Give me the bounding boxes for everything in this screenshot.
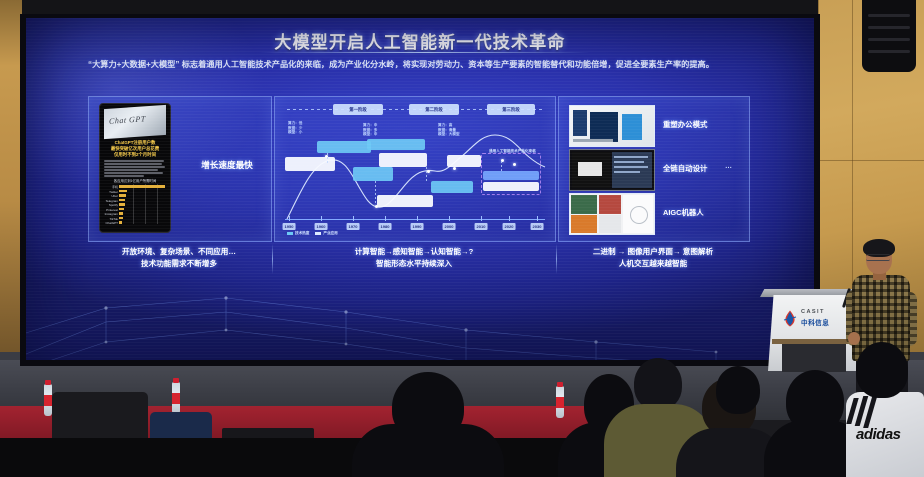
phone-headline-line3: 仅用时不到2个月时间 <box>104 152 166 158</box>
x-tick-8: 2030 <box>531 223 544 230</box>
thumb-design-screenshot <box>569 149 655 191</box>
timeline-box-3 <box>353 167 393 181</box>
right-item-label-1: 全链自动设计 <box>663 163 707 174</box>
water-bottle-2 <box>172 382 180 414</box>
podium-brand-en: CASIT <box>801 309 825 315</box>
timeline-box-6 <box>379 153 427 167</box>
audience-shoulders-1 <box>352 424 504 477</box>
water-bottle-3 <box>556 386 564 418</box>
panel-right: 重塑办公模式 全链自动设计 … AIGC机器人 <box>558 96 750 242</box>
thumb-office-screenshot <box>569 105 655 147</box>
timeline-box-5 <box>367 139 425 150</box>
podium-brand-cn: 中科信息 <box>801 317 829 327</box>
x-tick-2: 1970 <box>347 223 360 230</box>
curve-annotation: 通用人工智能技术产品化来临 <box>489 149 536 154</box>
x-tick-0: 1950 <box>283 223 296 230</box>
speaker-glasses-icon <box>866 254 890 261</box>
phone-bar-chart: 各应用达到1亿用户所需时间 手机 Twitter Uber Telegram S… <box>103 178 167 226</box>
slide-title: 大模型开启人工智能新一代技术革命 <box>26 28 814 53</box>
caption-middle-line1: 计算智能→感知智能→认知智能→? <box>274 246 554 258</box>
caption-right-line1: 二进制 → 图像用户界面→ 意图解析 <box>558 246 748 258</box>
panel-left: Chat GPT ChatGPT注册用户数 最快突破亿次用户总花费 仅用时不到2… <box>88 96 272 242</box>
speaker-hand <box>848 332 860 345</box>
timeline-box-8 <box>447 155 481 167</box>
caption-left-line1: 开放环境、复杂场景、不同应用… <box>88 246 270 258</box>
x-tick-4: 1990 <box>411 223 424 230</box>
era-label-1: 第一阶段 <box>333 104 383 115</box>
right-more-dots: … <box>725 163 733 170</box>
era-label-3: 第三阶段 <box>487 104 535 115</box>
phone-screenshot: Chat GPT ChatGPT注册用户数 最快突破亿次用户总花费 仅用时不到2… <box>99 103 171 233</box>
timeline-box-2 <box>317 141 371 153</box>
mesh-decoration-icon <box>26 262 736 360</box>
caption-left: 开放环境、复杂场景、不同应用… 技术功能需求不断增多 <box>88 246 270 269</box>
caption-left-line2: 技术功能需求不断增多 <box>88 258 270 270</box>
phone-headline: ChatGPT注册用户数 最快突破亿次用户总花费 仅用时不到2个月时间 <box>104 140 166 158</box>
time-axis <box>285 219 545 220</box>
era-note-1-line1: 算力：低 <box>288 121 302 126</box>
highlight-region <box>481 153 541 195</box>
screenshot-root: 大模型开启人工智能新一代技术革命 “大算力+大数据+大模型” 标志着通用人工智能… <box>0 0 924 477</box>
caption-right: 二进制 → 图像用户界面→ 意图解析 人机交互越来越智能 <box>558 246 748 269</box>
phone-chart-title: 各应用达到1亿用户所需时间 <box>103 178 167 183</box>
panel-middle: 第一阶段 第二阶段 第三阶段 算力：低 数据：少 模型：小 算力：中 数据：多 … <box>274 96 556 242</box>
chatgpt-app-title: Chat GPT <box>109 114 146 126</box>
right-item-label-0: 重塑办公模式 <box>663 119 707 130</box>
legend-item-1: 产业应用 <box>323 231 337 235</box>
caption-right-line2: 人机交互越来越智能 <box>558 258 748 270</box>
x-tick-1: 1960 <box>315 223 328 230</box>
era-label-2: 第二阶段 <box>409 104 459 115</box>
x-tick-7: 2020 <box>503 223 516 230</box>
x-tick-6: 2010 <box>475 223 488 230</box>
slide-subtitle: “大算力+大数据+大模型” 标志着通用人工智能技术产品化的来临，成为产业化分水岭… <box>88 58 748 71</box>
x-tick-3: 1980 <box>379 223 392 230</box>
water-bottle-1 <box>44 384 52 416</box>
podium-branding: CASIT 中科信息 <box>782 308 848 330</box>
audience-adidas-jacket: adidas <box>846 392 924 477</box>
title-underline <box>260 52 590 53</box>
caption-middle: 计算智能→感知智能→认知智能→? 智能形态水平持续深入 <box>274 246 554 269</box>
right-item-label-2: AIGC机器人 <box>663 207 704 218</box>
wall-left <box>0 0 22 366</box>
legend-item-0: 技术热度 <box>295 231 309 235</box>
presentation-screen: 大模型开启人工智能新一代技术革命 “大算力+大数据+大模型” 标志着通用人工智能… <box>26 18 814 360</box>
chatgpt-logo-image: Chat GPT <box>104 105 166 139</box>
audience-head-5 <box>716 366 760 414</box>
left-panel-headline: 增长速度最快 <box>185 159 269 171</box>
x-tick-5: 2000 <box>443 223 456 230</box>
chart-legend: 技术热度 产业应用 <box>287 231 338 236</box>
timeline-box-7 <box>431 181 473 193</box>
thumb-aigc-screenshot <box>569 193 655 235</box>
audience-head-3 <box>634 358 682 410</box>
caption-middle-line2: 智能形态水平持续深入 <box>274 258 554 270</box>
ceiling-speaker <box>862 0 916 72</box>
phone-body-text <box>104 160 166 178</box>
casit-flame-logo-icon <box>782 310 798 327</box>
podium-base <box>782 344 846 372</box>
adidas-wordmark: adidas <box>856 426 901 443</box>
timeline-box-4 <box>377 195 433 207</box>
audience-head-7 <box>856 342 908 398</box>
